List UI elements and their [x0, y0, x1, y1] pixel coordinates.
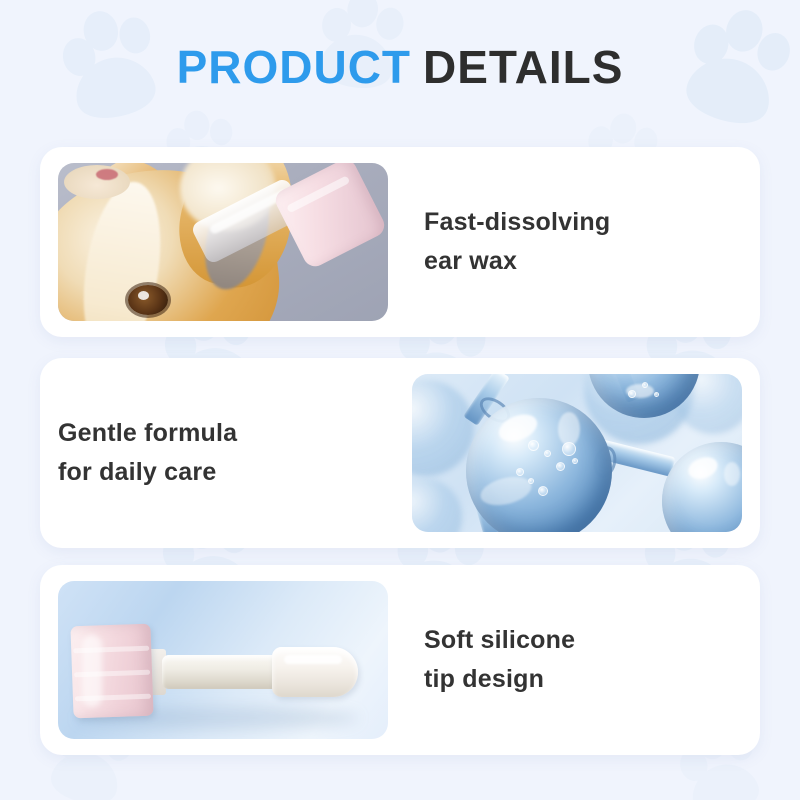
molecule-bubble [528, 440, 539, 451]
molecule-background-sphere [412, 478, 462, 532]
dropper-stem [162, 655, 280, 689]
corgi-ear-drop-photo [58, 163, 388, 321]
corgi-muzzle [64, 165, 130, 199]
molecule-bubble [642, 382, 648, 388]
molecule-bubble [654, 392, 659, 397]
corgi-nose [96, 169, 118, 180]
molecule-sphere-main [466, 398, 612, 532]
molecule-bubble [538, 486, 548, 496]
feature-card-fast-dissolving: Fast-dissolving ear wax [40, 147, 760, 337]
dropper-cap-highlight [82, 635, 102, 707]
feature-card-gentle-formula: Gentle formula for daily care [40, 358, 760, 548]
feature-text-line-1: Fast-dissolving [424, 203, 742, 242]
molecule-bubble [562, 442, 576, 456]
page-title: PRODUCTDETAILS [0, 44, 800, 90]
silicone-dropper-photo [58, 581, 388, 739]
molecule-sphere-right [662, 442, 742, 532]
molecule-bubble [544, 450, 551, 457]
molecule-bubble [528, 478, 534, 484]
blue-molecule-photo [412, 374, 742, 532]
molecule-bubble [516, 468, 524, 476]
molecule-bubble [556, 462, 565, 471]
molecule-background-sphere [412, 380, 474, 476]
feature-card-text: Fast-dissolving ear wax [406, 203, 760, 281]
molecule-bubble [572, 458, 578, 464]
feature-card-text: Soft silicone tip design [406, 621, 760, 699]
molecule-sphere-highlight [558, 412, 580, 446]
molecule-bubble [628, 390, 636, 398]
feature-text-line-2: for daily care [58, 453, 376, 492]
molecule-sphere-highlight [724, 462, 740, 486]
feature-card-text: Gentle formula for daily care [40, 414, 394, 492]
feature-card-layout: Soft silicone tip design [40, 565, 760, 755]
feature-card-layout: Fast-dissolving ear wax [40, 147, 760, 337]
feature-card-layout: Gentle formula for daily care [40, 358, 760, 548]
page-title-secondary: DETAILS [423, 41, 623, 93]
dropper-tip-highlight [284, 655, 342, 664]
feature-text-line-1: Gentle formula [58, 414, 376, 453]
feature-text-line-1: Soft silicone [424, 621, 742, 660]
product-details-page: PRODUCTDETAILS Fast-dissol [0, 0, 800, 800]
feature-text-line-2: tip design [424, 660, 742, 699]
page-title-primary: PRODUCT [177, 41, 411, 93]
corgi-eye [128, 285, 168, 315]
feature-card-soft-silicone: Soft silicone tip design [40, 565, 760, 755]
page-title-container: PRODUCTDETAILS [0, 44, 800, 90]
feature-text-line-2: ear wax [424, 242, 742, 281]
